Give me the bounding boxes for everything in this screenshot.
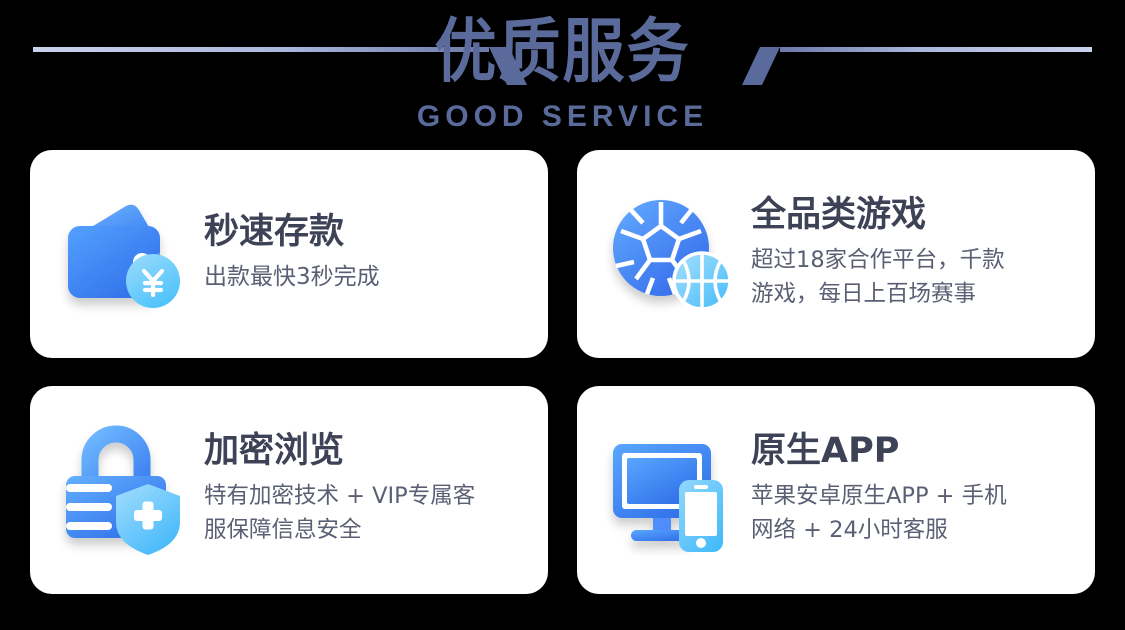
card-description: 出款最快3秒完成 xyxy=(204,260,530,294)
card-title: 秒速存款 xyxy=(204,210,530,254)
card-title: 原生APP xyxy=(751,429,1077,473)
card-description-line: 出款最快3秒完成 xyxy=(204,260,530,294)
card-text-block: 全品类游戏 超过18家合作平台，千款 游戏，每日上百场赛事 xyxy=(739,193,1077,315)
card-description: 特有加密技术 + VIP专属客 服保障信息安全 xyxy=(204,479,530,547)
wallet-yen-icon xyxy=(56,186,192,322)
monitor-phone-icon xyxy=(603,422,739,558)
feature-card-instant-deposit[interactable]: 秒速存款 出款最快3秒完成 xyxy=(30,150,548,358)
card-description-line: 苹果安卓原生APP + 手机 xyxy=(751,479,1077,513)
promo-feature-banner: 优质服务 GOOD SERVICE xyxy=(0,0,1125,630)
soccer-basketball-icon xyxy=(603,186,739,322)
feature-card-grid: 秒速存款 出款最快3秒完成 xyxy=(30,150,1095,590)
feature-card-all-category-games[interactable]: 全品类游戏 超过18家合作平台，千款 游戏，每日上百场赛事 xyxy=(577,150,1095,358)
card-title: 全品类游戏 xyxy=(751,193,1077,237)
header: 优质服务 GOOD SERVICE xyxy=(0,0,1125,145)
card-description-line: 特有加密技术 + VIP专属客 xyxy=(204,479,530,513)
card-description: 超过18家合作平台，千款 游戏，每日上百场赛事 xyxy=(751,243,1077,311)
card-text-block: 秒速存款 出款最快3秒完成 xyxy=(192,210,530,298)
card-description-line: 超过18家合作平台，千款 xyxy=(751,243,1077,277)
card-text-block: 原生APP 苹果安卓原生APP + 手机 网络 + 24小时客服 xyxy=(739,429,1077,551)
card-title: 加密浏览 xyxy=(204,429,530,473)
feature-card-encrypted-browsing[interactable]: 加密浏览 特有加密技术 + VIP专属客 服保障信息安全 xyxy=(30,386,548,594)
card-description-line: 服保障信息安全 xyxy=(204,513,530,547)
lock-shield-icon xyxy=(56,422,192,558)
card-text-block: 加密浏览 特有加密技术 + VIP专属客 服保障信息安全 xyxy=(192,429,530,551)
feature-card-native-app[interactable]: 原生APP 苹果安卓原生APP + 手机 网络 + 24小时客服 xyxy=(577,386,1095,594)
card-description-line: 游戏，每日上百场赛事 xyxy=(751,277,1077,311)
page-title-zh: 优质服务 xyxy=(0,8,1125,95)
page-title-en: GOOD SERVICE xyxy=(0,100,1125,134)
card-description-line: 网络 + 24小时客服 xyxy=(751,513,1077,547)
card-description: 苹果安卓原生APP + 手机 网络 + 24小时客服 xyxy=(751,479,1077,547)
